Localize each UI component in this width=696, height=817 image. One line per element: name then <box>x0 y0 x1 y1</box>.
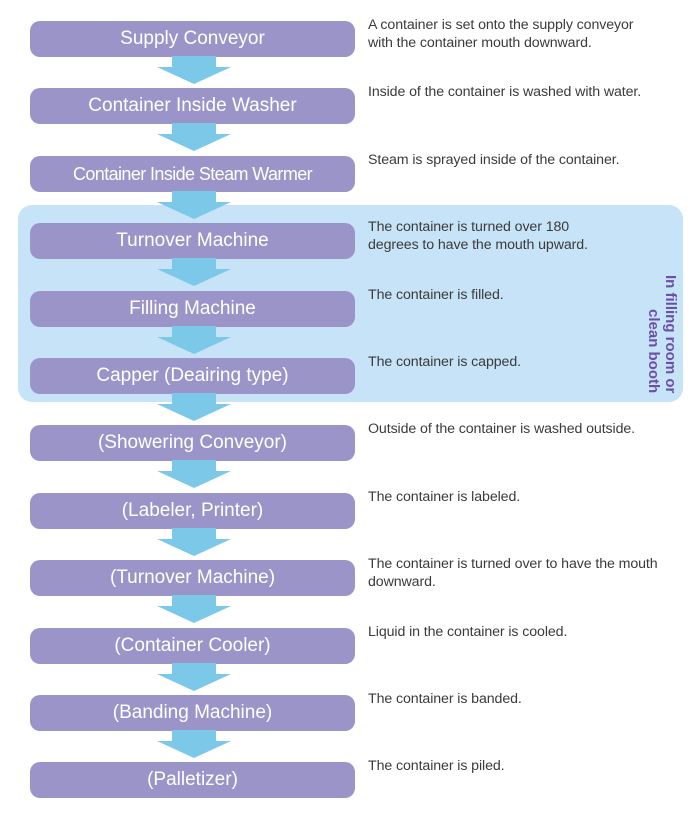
down-arrow-icon <box>157 123 231 151</box>
process-node-label: (Palletizer) <box>147 770 238 790</box>
process-node-turnover-machine-2[interactable]: (Turnover Machine) <box>30 560 355 596</box>
process-node-turnover-machine[interactable]: Turnover Machine <box>30 223 355 259</box>
process-node-label: Capper (Deairing type) <box>96 366 288 386</box>
down-arrow-icon <box>157 730 231 758</box>
down-arrow-icon <box>157 326 231 354</box>
down-arrow-icon <box>157 595 231 623</box>
clean-zone-label: In filling room or clean booth <box>633 217 679 393</box>
process-step-description: The container is banded. <box>368 691 658 709</box>
down-arrow-icon <box>157 663 231 691</box>
process-step-description: The container is turned over 180 degrees… <box>368 219 596 254</box>
process-step-description: Steam is sprayed inside of the container… <box>368 152 658 170</box>
process-node-filling-machine[interactable]: Filling Machine <box>30 291 355 327</box>
process-step-description: Inside of the container is washed with w… <box>368 84 658 102</box>
process-node-label: Supply Conveyor <box>120 29 265 49</box>
down-arrow-icon <box>157 258 231 286</box>
process-node-supply-conveyor[interactable]: Supply Conveyor <box>30 21 355 57</box>
process-node-container-inside-washer[interactable]: Container Inside Washer <box>30 88 355 124</box>
process-node-container-cooler[interactable]: (Container Cooler) <box>30 628 355 664</box>
process-node-label: (Labeler, Printer) <box>122 501 264 521</box>
process-step-description: The container is labeled. <box>368 489 658 507</box>
process-node-container-inside-steam-warmer[interactable]: Container Inside Steam Warmer <box>30 156 355 192</box>
process-node-labeler-printer[interactable]: (Labeler, Printer) <box>30 493 355 529</box>
process-node-label: (Showering Conveyor) <box>98 433 287 453</box>
process-flow-diagram: In filling room or clean booth Supply Co… <box>0 0 696 817</box>
down-arrow-icon <box>157 460 231 488</box>
process-node-label: (Banding Machine) <box>113 703 272 723</box>
process-step-description: The container is piled. <box>368 758 658 776</box>
process-node-showering-conveyor[interactable]: (Showering Conveyor) <box>30 425 355 461</box>
process-node-label: (Container Cooler) <box>114 636 270 656</box>
process-step-description: Outside of the container is washed outsi… <box>368 421 658 439</box>
process-step-description: Liquid in the container is cooled. <box>368 624 658 642</box>
down-arrow-icon <box>157 528 231 556</box>
process-node-palletizer[interactable]: (Palletizer) <box>30 762 355 798</box>
down-arrow-icon <box>157 56 231 84</box>
down-arrow-icon <box>157 191 231 219</box>
process-step-description: The container is capped. <box>368 354 596 372</box>
process-step-description: The container is filled. <box>368 287 596 305</box>
process-node-label: (Turnover Machine) <box>110 568 275 588</box>
process-node-banding-machine[interactable]: (Banding Machine) <box>30 695 355 731</box>
process-node-label: Container Inside Steam Warmer <box>73 164 312 184</box>
process-step-description: A container is set onto the supply conve… <box>368 17 658 52</box>
process-node-capper-deairing-type[interactable]: Capper (Deairing type) <box>30 358 355 394</box>
down-arrow-icon <box>157 393 231 421</box>
process-node-label: Filling Machine <box>129 299 256 319</box>
process-node-label: Turnover Machine <box>116 231 268 251</box>
process-step-description: The container is turned over to have the… <box>368 556 658 591</box>
process-node-label: Container Inside Washer <box>88 96 296 116</box>
